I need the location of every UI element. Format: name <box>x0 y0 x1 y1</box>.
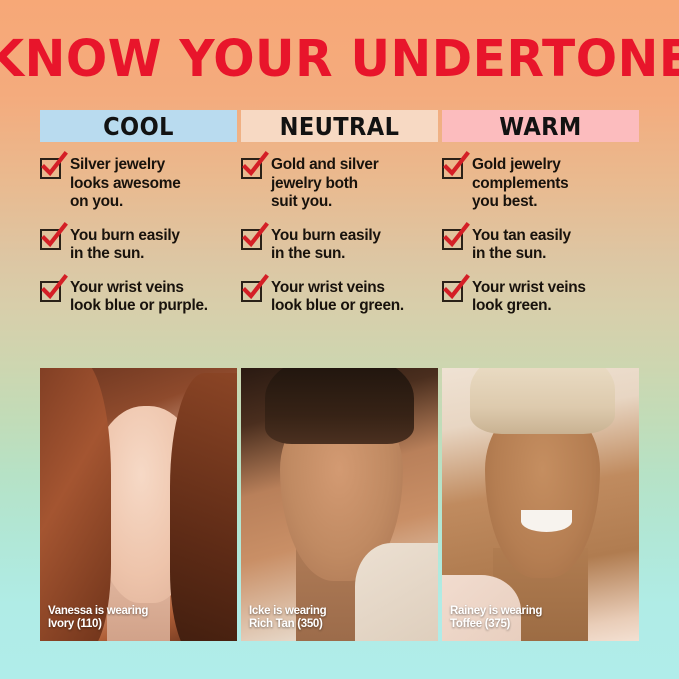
column-header-warm: WARM <box>442 110 639 142</box>
checkmark-icon <box>442 281 463 302</box>
column-header-cool: COOL <box>40 110 237 142</box>
undertone-infographic: KNOW YOUR UNDERTONE COOL Silver jewelry … <box>0 0 679 679</box>
checkmark-icon <box>442 229 463 250</box>
portrait-collar <box>355 543 438 641</box>
checklist-item-label: You tan easily in the sun. <box>472 227 571 264</box>
checklist-item: Your wrist veins look blue or purple. <box>40 279 237 316</box>
column-warm: WARM Gold jewelry complements you best. … <box>442 110 639 316</box>
checklist-item: Your wrist veins look blue or green. <box>241 279 438 316</box>
checklist-cool: Silver jewelry looks awesome on you. You… <box>40 156 237 316</box>
checklist-neutral: Gold and silver jewelry both suit you. Y… <box>241 156 438 316</box>
checkmark-icon <box>40 281 61 302</box>
checkmark-icon <box>241 281 262 302</box>
model-photo-warm: Rainey is wearing Toffee (375) <box>442 368 639 641</box>
checklist-item: You tan easily in the sun. <box>442 227 639 264</box>
column-cool: COOL Silver jewelry looks awesome on you… <box>40 110 237 316</box>
checklist-item: Your wrist veins look green. <box>442 279 639 316</box>
checkmark-icon <box>241 229 262 250</box>
checkmark-icon <box>241 158 262 179</box>
photo-caption: Icke is wearing Rich Tan (350) <box>249 605 326 631</box>
checklist-warm: Gold jewelry complements you best. You t… <box>442 156 639 316</box>
model-photos: Vanessa is wearing Ivory (110) Icke is w… <box>40 368 644 641</box>
checklist-item: Silver jewelry looks awesome on you. <box>40 156 237 212</box>
portrait-hair <box>265 368 415 444</box>
checklist-item-label: Silver jewelry looks awesome on you. <box>70 156 181 212</box>
checklist-item-label: Gold jewelry complements you best. <box>472 156 568 212</box>
checklist-item-label: Your wrist veins look blue or purple. <box>70 279 208 316</box>
photo-caption: Vanessa is wearing Ivory (110) <box>48 605 148 631</box>
portrait-hair <box>470 368 616 434</box>
checklist-item-label: You burn easily in the sun. <box>70 227 180 264</box>
checklist-item: You burn easily in the sun. <box>241 227 438 264</box>
checklist-item: Gold jewelry complements you best. <box>442 156 639 212</box>
column-neutral: NEUTRAL Gold and silver jewelry both sui… <box>241 110 438 316</box>
model-photo-cool: Vanessa is wearing Ivory (110) <box>40 368 237 641</box>
column-header-neutral: NEUTRAL <box>241 110 438 142</box>
checkmark-icon <box>442 158 463 179</box>
model-photo-neutral: Icke is wearing Rich Tan (350) <box>241 368 438 641</box>
checklist-item-label: Gold and silver jewelry both suit you. <box>271 156 378 212</box>
photo-caption: Rainey is wearing Toffee (375) <box>450 605 542 631</box>
checklist-item-label: You burn easily in the sun. <box>271 227 381 264</box>
page-title: KNOW YOUR UNDERTONE <box>0 33 679 87</box>
portrait-image-icke <box>241 368 438 641</box>
portrait-image-vanessa <box>40 368 237 641</box>
checkmark-icon <box>40 158 61 179</box>
checkmark-icon <box>40 229 61 250</box>
checklist-item: You burn easily in the sun. <box>40 227 237 264</box>
portrait-hair-left <box>40 368 111 641</box>
portrait-image-rainey <box>442 368 639 641</box>
checklist-item-label: Your wrist veins look blue or green. <box>271 279 404 316</box>
portrait-hair-right <box>170 373 237 641</box>
portrait-smile <box>521 510 572 532</box>
checklist-item: Gold and silver jewelry both suit you. <box>241 156 438 212</box>
checklist-item-label: Your wrist veins look green. <box>472 279 586 316</box>
undertone-columns: COOL Silver jewelry looks awesome on you… <box>40 110 644 316</box>
